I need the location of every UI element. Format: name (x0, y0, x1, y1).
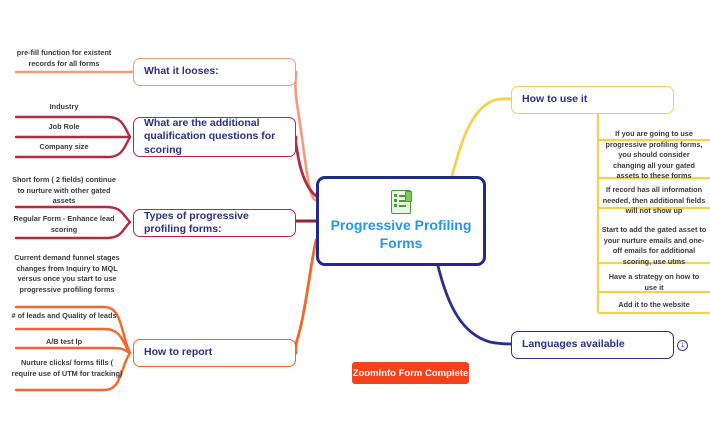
leaf-ab-test-lp[interactable]: A/B test lp (8, 337, 120, 348)
link-center-how-to-use-it (452, 99, 511, 176)
branch-label-types: Types of progressive profiling forms: (144, 210, 285, 236)
leaf-add-gated-asset-nurture[interactable]: Start to add the gated asset to your nur… (600, 225, 708, 267)
leaf-regular-form[interactable]: Regular Form - Enhance lead scoring (8, 214, 120, 235)
leaf-nurture-clicks[interactable]: Nurture clicks/ forms fills ( require us… (8, 358, 126, 379)
form-checklist-icon (390, 190, 412, 214)
leaf-current-demand-funnel[interactable]: Current demand funnel stages changes fro… (8, 253, 126, 295)
branch-node-languages-available[interactable]: Languages available (511, 331, 674, 359)
branch-node-additional-qualification[interactable]: What are the additional qualification qu… (133, 117, 296, 157)
branch-node-how-to-report[interactable]: How to report (133, 339, 296, 367)
branch-label-how-to-report: How to report (144, 346, 212, 359)
collapse-count: 1 (681, 343, 684, 349)
branch-label-how-to-use-it: How to use it (522, 93, 587, 106)
branch-label-additional-qualification: What are the additional qualification qu… (144, 117, 285, 156)
leaf-job-role[interactable]: Job Role (8, 122, 120, 133)
leaf-have-a-strategy[interactable]: Have a strategy on how to use it (602, 272, 706, 293)
link-center-what-it-looses (295, 72, 316, 200)
leaf-record-has-all-info[interactable]: If record has all information needed, th… (602, 185, 706, 217)
leaf-add-to-website[interactable]: Add it to the website (602, 300, 706, 311)
leaf-short-form[interactable]: Short form ( 2 fields) continue to nurtu… (8, 175, 120, 207)
branch-label-what-it-looses: What it looses: (144, 65, 219, 78)
central-topic-node[interactable]: Progressive Profiling Forms (316, 176, 486, 266)
leaf-industry[interactable]: Industry (8, 102, 120, 113)
leaf-company-size[interactable]: Company size (8, 142, 120, 153)
link-center-additional-qualification (296, 137, 316, 196)
leaf-link-ab-test (16, 348, 130, 353)
branch-node-types[interactable]: Types of progressive profiling forms: (133, 209, 296, 237)
link-center-how-to-report (296, 240, 316, 353)
leaf-leads-quality[interactable]: # of leads and Quality of leads (8, 311, 120, 322)
central-topic-label: Progressive Profiling Forms (319, 217, 483, 252)
branch-node-how-to-use-it[interactable]: How to use it (511, 86, 674, 114)
leaf-use-all-gated-assets[interactable]: If you are going to use progressive prof… (602, 129, 706, 182)
link-center-languages (438, 266, 511, 344)
badge-label: ZoomInfo Form Complete (353, 368, 469, 379)
zoominfo-form-complete-badge[interactable]: ZoomInfo Form Complete (352, 362, 469, 384)
leaf-prefill-function[interactable]: pre-fill function for existent records f… (8, 48, 120, 69)
branch-label-languages-available: Languages available (522, 338, 625, 351)
branch-node-what-it-looses[interactable]: What it looses: (133, 58, 296, 86)
collapse-toggle-languages[interactable]: 1 (677, 340, 688, 351)
mindmap-canvas: Progressive Profiling Forms What it loos… (0, 0, 710, 439)
